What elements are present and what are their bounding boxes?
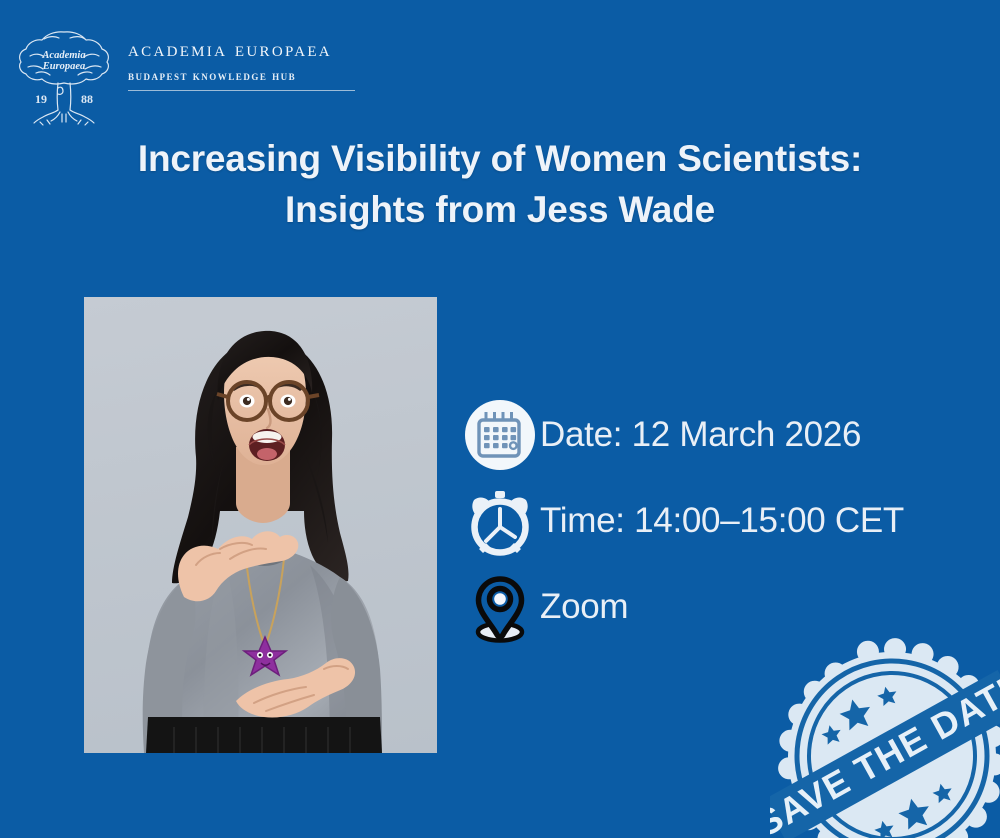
speaker-portrait-illustration [84,297,437,753]
logo-year-right: 88 [81,92,93,106]
brand-wordmark: Academia Europaea Budapest Knowledge Hub [128,26,355,91]
brand-subtitle: Budapest Knowledge Hub [128,68,355,84]
brand-title: Academia Europaea [128,38,355,61]
logo-mark-line1: Academia [41,50,85,61]
brand-logo-block: Academia Europaea 19 88 Academia Europae… [14,26,355,128]
logo-mark-line2: Europaea [42,61,86,72]
speaker-photo [84,297,437,753]
event-detail-date: Date: 12 March 2026 [462,392,982,478]
event-date-label: Date: 12 March 2026 [540,415,861,455]
event-time-label: Time: 14:00–15:00 CET [540,501,904,541]
logo-year-left: 19 [35,92,47,106]
alarm-clock-icon [462,483,538,559]
poster-canvas: Academia Europaea 19 88 Academia Europae… [0,0,1000,838]
save-the-date-stamp: SAVE THE DATE [770,634,1000,838]
event-location-label: Zoom [540,587,628,627]
page-title-line-2: Insights from Jess Wade [0,184,1000,235]
event-detail-time: Time: 14:00–15:00 CET [462,478,982,564]
event-details-list: Date: 12 March 2026 [462,392,982,650]
calendar-icon [462,397,538,473]
map-pin-icon [462,569,538,645]
brand-divider [128,90,355,92]
academia-europaea-tree-logo: Academia Europaea 19 88 [14,26,114,128]
page-title: Increasing Visibility of Women Scientist… [0,133,1000,235]
page-title-line-1: Increasing Visibility of Women Scientist… [0,133,1000,184]
